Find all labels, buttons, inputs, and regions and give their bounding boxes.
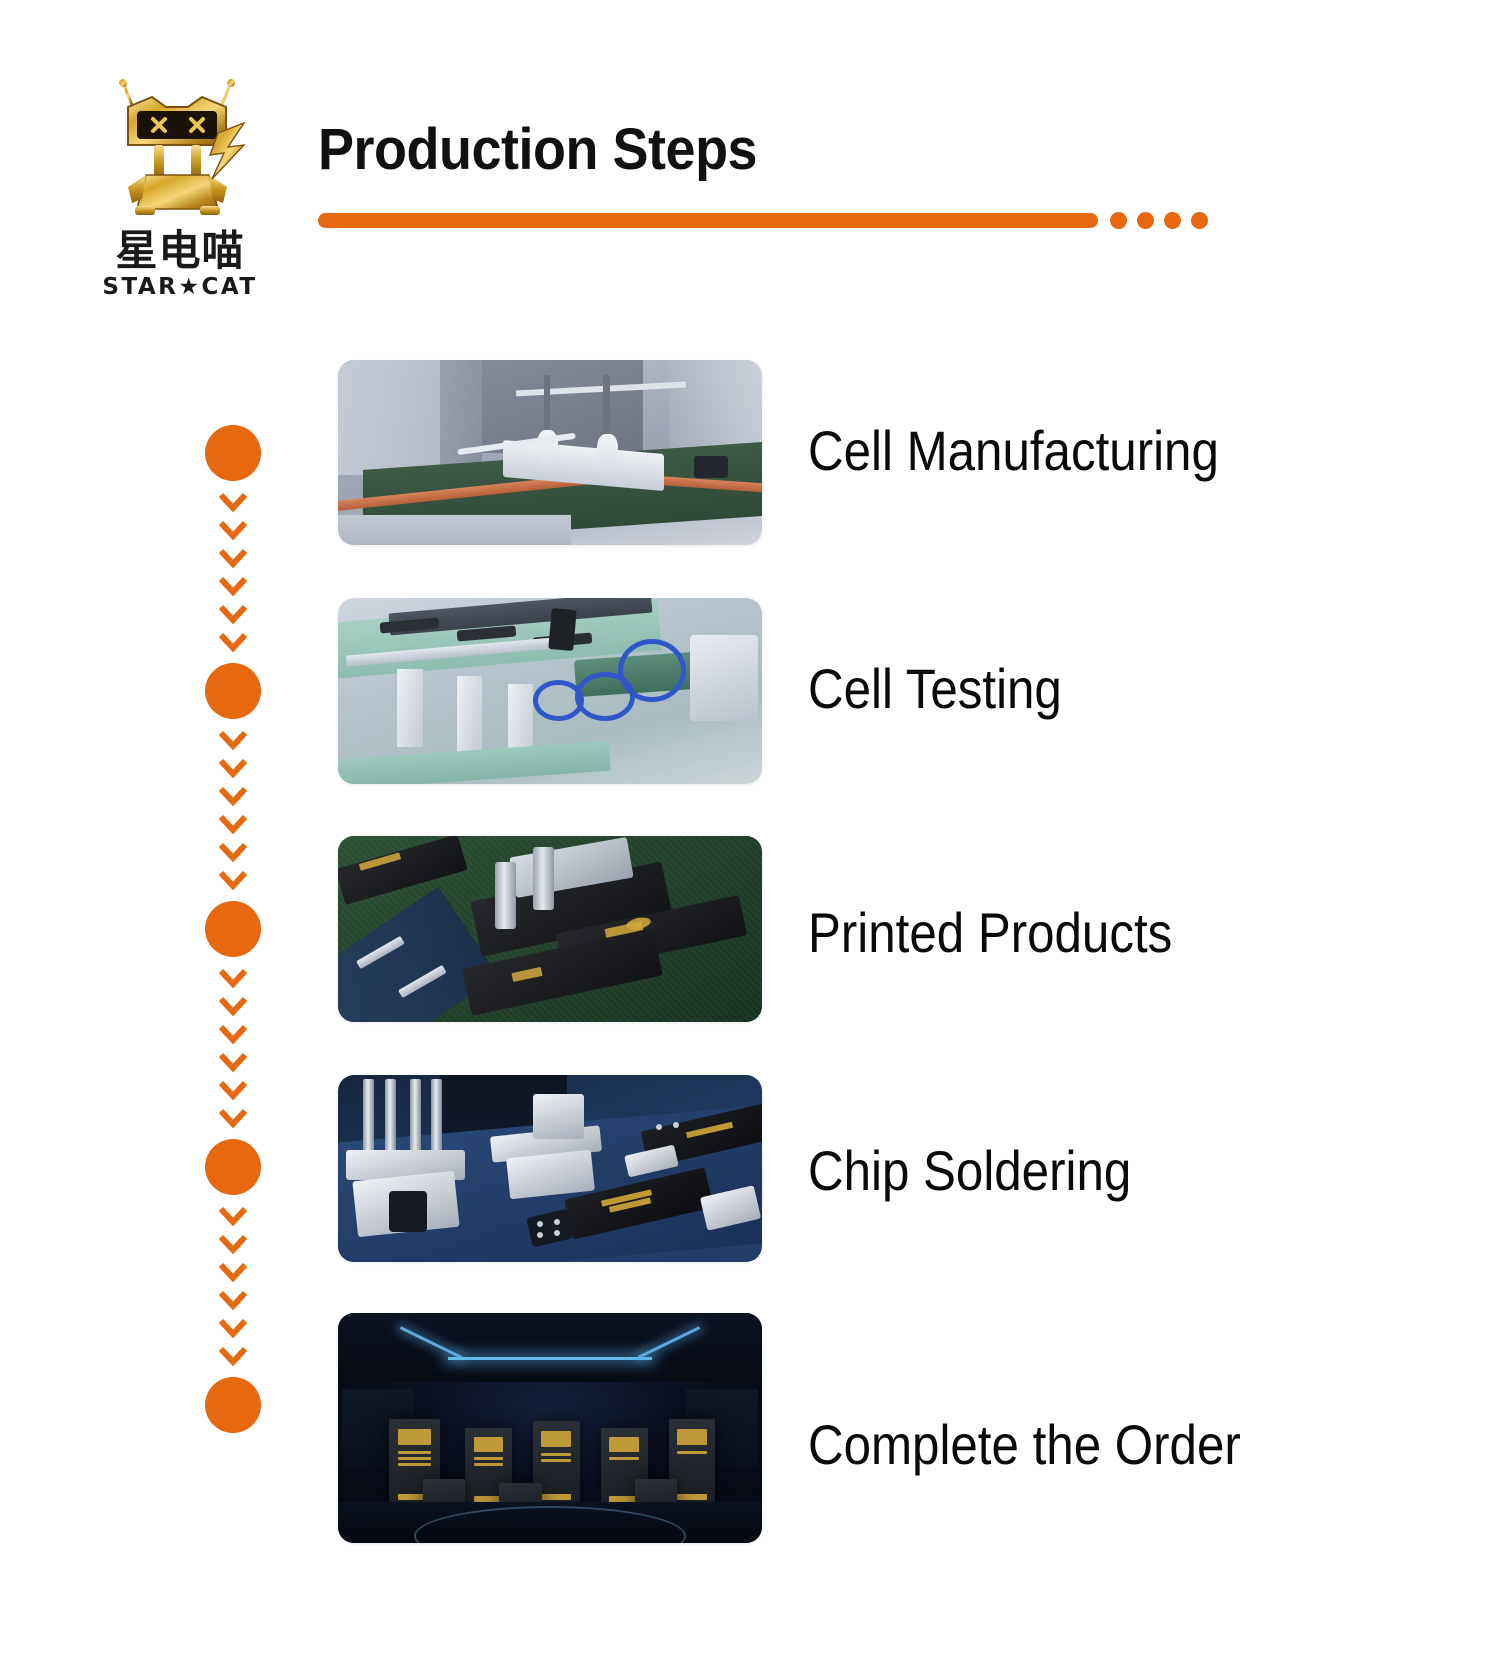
- photo-scene: [338, 836, 762, 1022]
- star-cat-robot-logo-icon: [108, 75, 253, 225]
- chevron-down-icon: [218, 1051, 248, 1073]
- timeline-marker-1: [205, 425, 261, 481]
- chevron-down-icon: [218, 1345, 248, 1367]
- chevron-down-icon: [218, 1317, 248, 1339]
- photo-scene: [338, 598, 762, 784]
- printed-products-photo[interactable]: [338, 836, 762, 1022]
- chevron-down-icon: [218, 967, 248, 989]
- chevron-down-icon: [218, 631, 248, 653]
- timeline-marker-4: [205, 1139, 261, 1195]
- chevron-down-icon: [218, 841, 248, 863]
- accent-dot: [1110, 212, 1127, 229]
- timeline-marker-5: [205, 1377, 261, 1433]
- step-label-5: Complete the Order: [808, 1412, 1241, 1477]
- accent-dot: [1137, 212, 1154, 229]
- chevron-down-icon: [218, 729, 248, 751]
- timeline-marker-3: [205, 901, 261, 957]
- accent-dot: [1164, 212, 1181, 229]
- photo-scene: CE FC CE FC CE FC: [338, 1313, 762, 1543]
- title-accent-dots: [1110, 212, 1208, 229]
- photo-scene: [338, 1075, 762, 1262]
- chevron-down-icon: [218, 757, 248, 779]
- chevron-down-icon: [218, 603, 248, 625]
- step-label-4: Chip Soldering: [808, 1138, 1131, 1203]
- timeline-rail: [205, 415, 267, 1455]
- chevron-down-icon: [218, 1205, 248, 1227]
- chevron-down-icon: [218, 575, 248, 597]
- chevron-down-icon: [218, 1233, 248, 1255]
- chevron-down-icon: [218, 785, 248, 807]
- chevron-down-icon: [218, 1261, 248, 1283]
- brand-logo-block: 星电喵 STAR★CAT: [95, 75, 265, 305]
- chevron-down-icon: [218, 1289, 248, 1311]
- chevron-down-icon: [218, 547, 248, 569]
- cell-testing-photo[interactable]: [338, 598, 762, 784]
- page-title: Production Steps: [318, 116, 757, 183]
- chevron-down-icon: [218, 995, 248, 1017]
- brand-name-en: STAR★CAT: [102, 274, 257, 300]
- title-accent-rule: [318, 213, 1098, 228]
- step-label-2: Cell Testing: [808, 656, 1062, 721]
- chip-soldering-photo[interactable]: [338, 1075, 762, 1262]
- chevron-down-icon: [218, 813, 248, 835]
- timeline-marker-2: [205, 663, 261, 719]
- cell-manufacturing-photo[interactable]: [338, 360, 762, 545]
- chevron-down-icon: [218, 1107, 248, 1129]
- chevron-down-icon: [218, 1023, 248, 1045]
- step-label-1: Cell Manufacturing: [808, 418, 1219, 483]
- chevron-down-icon: [218, 869, 248, 891]
- production-steps-infographic: 星电喵 STAR★CAT Production Steps: [0, 0, 1500, 1676]
- brand-name-cn: 星电喵: [115, 229, 244, 273]
- step-label-3: Printed Products: [808, 900, 1172, 965]
- chevron-down-icon: [218, 491, 248, 513]
- complete-the-order-photo[interactable]: CE FC CE FC CE FC: [338, 1313, 762, 1543]
- chevron-down-icon: [218, 519, 248, 541]
- accent-dot: [1191, 212, 1208, 229]
- photo-scene: [338, 360, 762, 545]
- chevron-down-icon: [218, 1079, 248, 1101]
